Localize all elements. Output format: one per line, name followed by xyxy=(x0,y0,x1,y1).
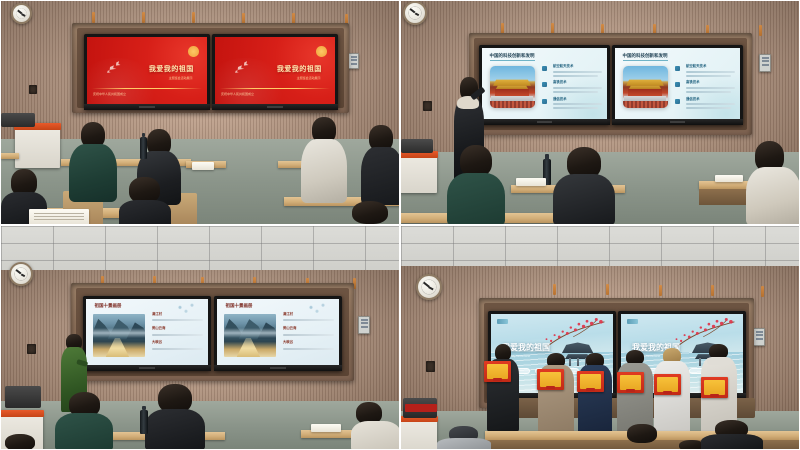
wall-control-panel[interactable] xyxy=(753,328,765,346)
bullet-heading: 大峡谷 xyxy=(152,341,203,345)
slide-title: 我爱我的祖国 xyxy=(149,66,194,73)
water-bottle xyxy=(140,410,148,434)
bullet-text-line xyxy=(686,75,731,77)
wall-clock xyxy=(11,3,32,24)
certificate-seal xyxy=(546,386,556,389)
bullet-heading: 漓江村 xyxy=(152,313,203,317)
palace-body xyxy=(628,89,661,96)
bullet-square-icon xyxy=(542,82,547,87)
bullet-text-line xyxy=(553,75,598,77)
certificate-inner-panel xyxy=(580,374,602,390)
panel-line-icon xyxy=(351,63,357,65)
panel-line-icon xyxy=(361,319,368,321)
slide-bullet-list: 航空航天技术 高铁技术 通信技术 xyxy=(542,65,602,114)
bullet-text-line xyxy=(152,348,203,350)
clock-face-ticks xyxy=(408,6,422,20)
bullet-heading: 通信技术 xyxy=(686,98,735,102)
bullet-square-icon xyxy=(542,99,547,104)
award-certificate xyxy=(617,372,644,393)
certificate-inner-panel xyxy=(540,372,562,388)
award-holder xyxy=(538,353,574,435)
panel-line-icon xyxy=(756,334,763,336)
bullet-text-line xyxy=(152,319,203,321)
certificate-inner-panel xyxy=(657,377,679,393)
collage-panel-bottom-left: 祖国十景画册 漓江村 黄山云海 xyxy=(0,225,400,450)
student-head xyxy=(627,424,656,443)
list-item: 黄山云海 xyxy=(152,327,203,336)
student-coat-light xyxy=(351,421,400,450)
panel-line-icon xyxy=(351,56,357,58)
bullet-text-line xyxy=(553,91,598,93)
display-left-screen: 祖国十景画册 漓江村 黄山云海 xyxy=(86,299,208,365)
list-item: 高铁技术 xyxy=(675,81,735,93)
student-foreground xyxy=(1,434,43,450)
instructor-lectern xyxy=(400,416,437,450)
certificate-seal xyxy=(493,378,503,381)
instructor-lectern xyxy=(15,123,60,168)
photo-collage: 我爱我的祖国 主题班会活动展示 庆祝中华人民共和国成立 xyxy=(0,0,800,450)
award-certificate xyxy=(537,369,564,390)
wall-socket xyxy=(27,344,36,354)
bullet-text-line xyxy=(686,91,731,93)
wall-hook-icon xyxy=(606,284,609,295)
list-item: 大峡谷 xyxy=(283,341,334,350)
slide-subtitle: 主题班会活动展示 xyxy=(169,77,193,80)
student-seated xyxy=(145,384,205,450)
slide-title: 祖国十景画册 xyxy=(226,304,253,309)
student-seated xyxy=(447,145,505,225)
display-bezel-foot xyxy=(479,119,610,125)
student-seated xyxy=(349,402,400,450)
open-book xyxy=(192,162,214,170)
student-seated xyxy=(69,122,117,202)
bullet-text-line xyxy=(553,103,602,105)
river-sandbar xyxy=(237,338,261,357)
bullet-text-line xyxy=(686,87,735,89)
wall-clock xyxy=(403,1,427,25)
ceiling-tile-grid xyxy=(401,226,799,268)
display-bezel-foot xyxy=(83,365,211,371)
student-coat xyxy=(119,200,171,225)
bullet-heading: 黄山云海 xyxy=(152,327,203,331)
student-seated xyxy=(301,117,347,203)
student-coat xyxy=(701,434,763,450)
display-right[interactable]: 我爱我的祖国 主题班会活动展示 庆祝中华人民共和国成立 xyxy=(212,34,338,110)
bullet-square-icon xyxy=(675,82,680,87)
slide-divider xyxy=(92,88,202,89)
collage-panel-top-left: 我爱我的祖国 主题班会活动展示 庆祝中华人民共和国成立 xyxy=(0,0,400,225)
bullet-text-line xyxy=(283,334,334,336)
certificate-seal xyxy=(586,388,596,391)
student-coat xyxy=(361,147,400,205)
wall-hook-icon xyxy=(553,284,556,295)
award-certificate xyxy=(654,374,681,395)
lectern-top-trim xyxy=(0,410,44,417)
student-seated xyxy=(361,125,400,205)
display-left[interactable]: 中国的科技创新和发明 航空航天技术 xyxy=(479,45,610,125)
slide-footer: 庆祝中华人民共和国成立 xyxy=(93,93,126,96)
audience-member xyxy=(617,424,669,450)
rising-sun-icon xyxy=(188,46,199,57)
list-item: 航空航天技术 xyxy=(675,65,735,77)
slide-tech-innovation: 中国的科技创新和发明 航空航天技术 xyxy=(482,48,607,119)
panel-line-icon xyxy=(762,57,769,59)
display-bezel-foot xyxy=(84,104,210,110)
display-left-screen: 中国的科技创新和发明 航空航天技术 xyxy=(482,48,607,119)
wall-hook-icon xyxy=(92,12,95,23)
student-seated xyxy=(746,141,800,225)
bullet-text-line xyxy=(152,334,203,336)
rising-sun-icon xyxy=(316,46,327,57)
award-certificate xyxy=(484,361,511,382)
student-foreground xyxy=(119,177,171,225)
display-bezel-foot xyxy=(212,104,338,110)
panel-line-icon xyxy=(756,338,763,340)
display-left-screen: 我爱我的祖国 主题班会活动展示 庆祝中华人民共和国成立 xyxy=(87,37,207,104)
wall-hook-icon xyxy=(192,12,195,23)
water-bottle xyxy=(140,137,147,159)
certificate-seal xyxy=(663,391,673,394)
student-coat-light xyxy=(746,167,800,226)
student-coat xyxy=(553,174,615,225)
bullet-text-line xyxy=(553,107,598,109)
mist-layer xyxy=(93,328,144,338)
bullet-text-line xyxy=(686,103,735,105)
list-item: 漓江村 xyxy=(152,313,203,322)
ceiling-tile-grid xyxy=(1,226,399,272)
award-certificate xyxy=(577,371,604,392)
open-book xyxy=(29,209,89,225)
palace-roof xyxy=(626,79,664,86)
list-item: 航空航天技术 xyxy=(542,65,602,77)
slide-bullet-list: 漓江村 黄山云海 大峡谷 xyxy=(283,313,334,356)
mist-layer xyxy=(224,328,275,338)
wall-socket xyxy=(423,101,432,111)
display-right-screen: 我爱我的祖国 主题班会活动展示 庆祝中华人民共和国成立 xyxy=(215,37,335,104)
student-foreground xyxy=(341,201,400,225)
wall-control-panel[interactable] xyxy=(348,53,359,69)
slide-landscape-album: 祖国十景画册 漓江村 黄山云海 xyxy=(86,299,208,365)
clock-face-ticks xyxy=(14,267,28,281)
wall-clock xyxy=(9,262,33,286)
award-holder xyxy=(578,353,612,435)
slide-landscape-album-mirror: 祖国十景画册 漓江村 黄山云海 xyxy=(217,299,339,365)
bullet-text-line xyxy=(553,71,602,73)
award-holder xyxy=(487,344,519,431)
display-right[interactable]: 祖国十景画册 漓江村 黄山云海 xyxy=(214,296,342,371)
scarf xyxy=(707,358,729,365)
clock-face-ticks xyxy=(421,279,437,295)
display-bezel-foot xyxy=(214,365,342,371)
slide-tech-innovation-mirror: 中国的科技创新和发明 航空航天技术 xyxy=(615,48,740,119)
slide-bullet-list: 航空航天技术 高铁技术 通信技术 xyxy=(675,65,735,114)
school-logo xyxy=(497,319,508,325)
slide-footer: 庆祝中华人民共和国成立 xyxy=(221,93,254,96)
collage-panel-top-right: 中国的科技创新和发明 航空航天技术 xyxy=(400,0,800,225)
lectern-items xyxy=(1,113,35,127)
text-line xyxy=(34,213,84,214)
display-left[interactable]: 祖国十景画册 漓江村 黄山云海 xyxy=(83,296,211,371)
pavilion-roof xyxy=(562,342,594,353)
bullet-square-icon xyxy=(542,66,547,71)
palace-roof xyxy=(493,79,531,86)
bullet-text-line xyxy=(686,107,731,109)
display-right[interactable]: 中国的科技创新和发明 航空航天技术 xyxy=(612,45,743,125)
audience-member xyxy=(701,420,763,450)
red-banner-box xyxy=(405,404,437,412)
wall-clock xyxy=(416,274,442,300)
bullet-text-line xyxy=(283,348,334,350)
list-item: 高铁技术 xyxy=(542,81,602,93)
certificate-inner-panel xyxy=(487,364,509,380)
slide-title: 中国的科技创新和发明 xyxy=(490,54,535,59)
text-line xyxy=(34,216,84,217)
slide-red-patriotic-mirror: 我爱我的祖国 主题班会活动展示 庆祝中华人民共和国成立 xyxy=(215,37,335,104)
slide-bullet-list: 漓江村 黄山云海 大峡谷 xyxy=(152,313,203,356)
panel-line-icon xyxy=(361,322,368,324)
bullet-heading: 航空航天技术 xyxy=(553,65,602,69)
list-item: 通信技术 xyxy=(542,98,602,110)
wall-socket xyxy=(29,85,37,94)
notebook xyxy=(715,175,743,182)
list-item: 漓江村 xyxy=(283,313,334,322)
side-desk xyxy=(1,153,19,159)
bullet-square-icon xyxy=(675,66,680,71)
instructor-lectern xyxy=(400,151,437,193)
student-hoodie xyxy=(437,438,491,450)
bullet-heading: 航空航天技术 xyxy=(686,65,735,69)
notebook xyxy=(516,178,546,186)
panel-line-icon xyxy=(351,59,357,61)
audience-member xyxy=(437,426,491,450)
panel-line-icon xyxy=(762,64,769,66)
display-right-screen: 祖国十景画册 漓江村 黄山云海 xyxy=(217,299,339,365)
list-item: 黄山云海 xyxy=(283,327,334,336)
bullet-square-icon xyxy=(675,99,680,104)
wall-hook-icon xyxy=(711,285,714,296)
river-sandbar xyxy=(106,338,130,357)
text-line xyxy=(34,219,84,220)
student-seated xyxy=(55,392,113,450)
suspended-ceiling xyxy=(401,226,799,268)
slide-subtitle: 主题班会活动展示 xyxy=(297,77,321,80)
bullet-heading: 漓江村 xyxy=(283,313,334,317)
award-certificate xyxy=(701,377,728,398)
list-item: 大峡谷 xyxy=(152,341,203,350)
slide-title: 我爱我的祖国 xyxy=(277,66,322,73)
slide-title: 中国的科技创新和发明 xyxy=(623,54,668,59)
clock-face-ticks xyxy=(16,8,27,19)
bullet-heading: 高铁技术 xyxy=(553,81,602,85)
certificate-inner-panel xyxy=(704,380,726,396)
certificate-seal xyxy=(626,389,636,392)
bullet-heading: 大峡谷 xyxy=(283,341,334,345)
palace-body xyxy=(495,89,528,96)
slide-divider xyxy=(220,88,330,89)
student-coat-light xyxy=(301,139,347,204)
landscape-photo xyxy=(93,314,144,358)
wall-control-panel[interactable] xyxy=(759,54,771,72)
forbidden-city-photo xyxy=(490,66,535,107)
dove-flock-icon xyxy=(228,58,259,75)
bullet-text-line xyxy=(553,87,602,89)
bullet-heading: 黄山云海 xyxy=(283,327,334,331)
display-left[interactable]: 我爱我的祖国 主题班会活动展示 庆祝中华人民共和国成立 xyxy=(84,34,210,110)
panel-line-icon xyxy=(756,331,763,333)
wall-hook-icon xyxy=(761,286,764,297)
student-coat xyxy=(447,173,505,225)
lectern-items xyxy=(5,386,41,408)
student-coat xyxy=(69,144,117,202)
collage-panel-bottom-right: 我爱我的祖国 I Love My Motherland xyxy=(400,225,800,450)
student-head xyxy=(352,201,388,224)
wall-control-panel[interactable] xyxy=(358,316,370,334)
student-coat xyxy=(145,409,205,450)
landscape-photo xyxy=(224,314,275,358)
wall-hook-icon xyxy=(759,25,762,36)
panel-line-icon xyxy=(762,60,769,62)
lectern-items xyxy=(401,139,433,153)
wall-hook-icon xyxy=(659,285,662,296)
school-logo xyxy=(627,319,638,325)
dove-flock-icon xyxy=(100,58,131,75)
student-head xyxy=(5,434,34,450)
display-right-screen: 中国的科技创新和发明 航空航天技术 xyxy=(615,48,740,119)
bullet-text-line xyxy=(283,319,334,321)
student-seated xyxy=(553,147,615,225)
certificate-seal xyxy=(710,394,720,397)
certificate-inner-panel xyxy=(620,375,642,391)
suspended-ceiling xyxy=(1,226,399,272)
crowd-band xyxy=(623,101,668,108)
wall-hook-icon xyxy=(142,12,145,23)
student-coat xyxy=(55,413,113,450)
display-bezel-foot xyxy=(612,119,743,125)
notebook xyxy=(311,424,341,432)
bullet-text-line xyxy=(686,71,735,73)
slide-red-patriotic: 我爱我的祖国 主题班会活动展示 庆祝中华人民共和国成立 xyxy=(87,37,207,104)
panel-line-icon xyxy=(361,326,368,328)
crowd-band xyxy=(490,101,535,108)
bullet-heading: 高铁技术 xyxy=(686,81,735,85)
list-item: 通信技术 xyxy=(675,98,735,110)
forbidden-city-photo xyxy=(623,66,668,107)
slide-title: 祖国十景画册 xyxy=(95,304,122,309)
wall-socket xyxy=(426,361,435,372)
bullet-heading: 通信技术 xyxy=(553,98,602,102)
